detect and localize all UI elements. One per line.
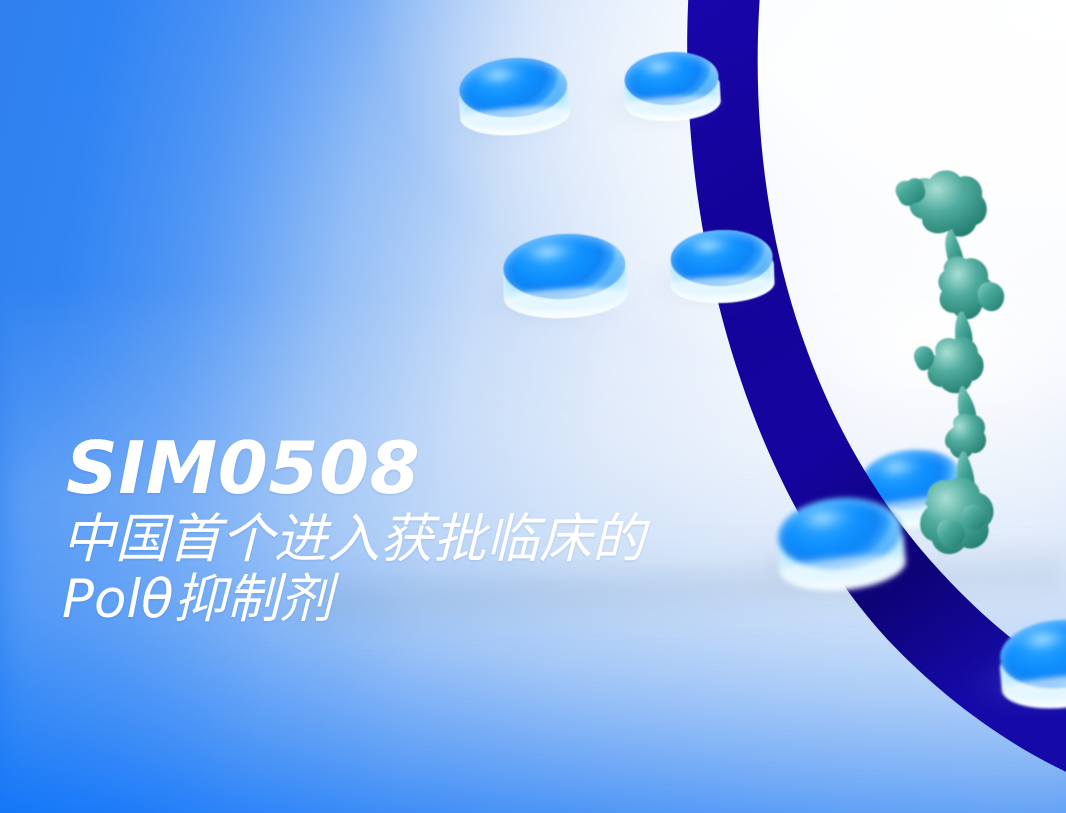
tablet-body xyxy=(622,50,722,127)
tablet-body xyxy=(456,54,571,141)
product-name-title: SIM0508 xyxy=(66,432,852,504)
tablet-body xyxy=(669,228,776,308)
protein-domain-3 xyxy=(927,337,984,393)
protein-ribbon-container xyxy=(880,155,1050,575)
headline-block: SIM0508 中国首个进入获批临床的 Polθ抑制剂 xyxy=(62,432,852,631)
tablet-body xyxy=(501,231,629,325)
tablet-mid-right xyxy=(669,228,776,308)
tablet-top-left xyxy=(456,54,571,141)
tablet-top-right xyxy=(622,50,722,127)
protein-domain-4 xyxy=(945,414,986,459)
tablet-body xyxy=(996,615,1066,717)
tablet-mid-left xyxy=(501,231,629,325)
promotional-poster: SIM0508 中国首个进入获批临床的 Polθ抑制剂 xyxy=(0,0,1066,813)
tablet-bottom-right xyxy=(996,615,1066,717)
protein-domain-5c xyxy=(962,505,987,530)
product-subtitle: 中国首个进入获批临床的 Polθ抑制剂 xyxy=(62,510,852,631)
protein-molecule-icon xyxy=(880,155,1050,575)
